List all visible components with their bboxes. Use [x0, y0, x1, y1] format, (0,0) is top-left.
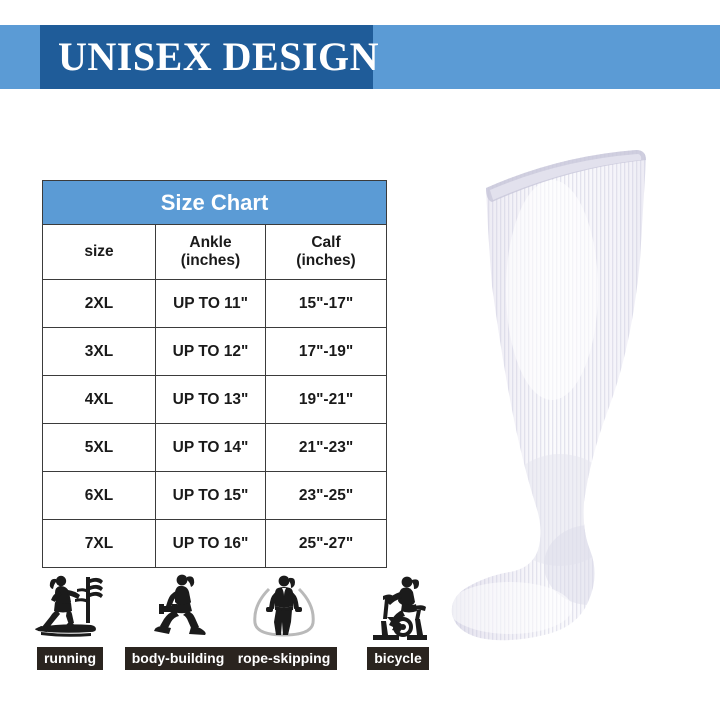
cell-ankle: UP TO 13": [156, 376, 266, 424]
cell-size: 2XL: [43, 280, 156, 328]
column-header-ankle-unit: (inches): [156, 252, 265, 270]
exercise-bike-icon: [359, 569, 437, 645]
header-banner: UNISEX DESIGN: [0, 25, 720, 89]
activity-label-running: running: [37, 647, 103, 670]
column-header-ankle: Ankle (inches): [156, 225, 266, 280]
sock-body: [440, 110, 720, 690]
table-row: 7XL UP TO 16" 25"-27": [43, 520, 387, 568]
cell-size: 6XL: [43, 472, 156, 520]
column-header-calf-unit: (inches): [266, 252, 386, 270]
table-header-row: size Ankle (inches) Calf (inches): [43, 225, 387, 280]
cell-calf: 19"-21": [266, 376, 387, 424]
treadmill-runner-icon: [31, 569, 109, 645]
activity-rope-skipping: rope-skipping: [234, 566, 334, 670]
table-row: 6XL UP TO 15" 23"-25": [43, 472, 387, 520]
size-chart-title: Size Chart: [161, 190, 269, 215]
product-image-sock: [440, 110, 720, 690]
cell-size: 5XL: [43, 424, 156, 472]
column-header-calf: Calf (inches): [266, 225, 387, 280]
cell-calf: 23"-25": [266, 472, 387, 520]
activity-label-body-building: body-building: [125, 647, 232, 670]
activity-icon-row: running: [18, 566, 438, 670]
column-header-ankle-label: Ankle: [189, 234, 231, 251]
cell-size: 7XL: [43, 520, 156, 568]
activity-running: running: [20, 566, 120, 670]
table-row: 2XL UP TO 11" 15"-17": [43, 280, 387, 328]
cell-ankle: UP TO 16": [156, 520, 266, 568]
cell-calf: 17"-19": [266, 328, 387, 376]
size-chart-table: Size Chart size Ankle (inches) Calf (inc…: [42, 180, 387, 568]
table-title-row: Size Chart: [43, 181, 387, 225]
cell-ankle: UP TO 14": [156, 424, 266, 472]
activity-body-building: body-building: [128, 566, 228, 670]
cell-size: 4XL: [43, 376, 156, 424]
cell-ankle: UP TO 15": [156, 472, 266, 520]
jump-rope-icon: [245, 569, 323, 645]
cell-ankle: UP TO 11": [156, 280, 266, 328]
cell-calf: 21"-23": [266, 424, 387, 472]
activity-label-rope-skipping: rope-skipping: [231, 647, 338, 670]
size-chart-title-cell: Size Chart: [43, 181, 387, 225]
cell-calf: 25"-27": [266, 520, 387, 568]
lunge-weight-icon: [139, 569, 217, 645]
cell-ankle: UP TO 12": [156, 328, 266, 376]
table-row: 5XL UP TO 14" 21"-23": [43, 424, 387, 472]
cell-calf: 15"-17": [266, 280, 387, 328]
activity-bicycle: bicycle: [348, 566, 448, 670]
column-header-calf-label: Calf: [311, 234, 340, 251]
table-row: 4XL UP TO 13" 19"-21": [43, 376, 387, 424]
activity-label-bicycle: bicycle: [367, 647, 428, 670]
cell-size: 3XL: [43, 328, 156, 376]
column-header-size: size: [43, 225, 156, 280]
page-title: UNISEX DESIGN: [40, 37, 379, 77]
table-row: 3XL UP TO 12" 17"-19": [43, 328, 387, 376]
column-header-size-label: size: [84, 243, 113, 260]
header-title-box: UNISEX DESIGN: [40, 25, 373, 89]
